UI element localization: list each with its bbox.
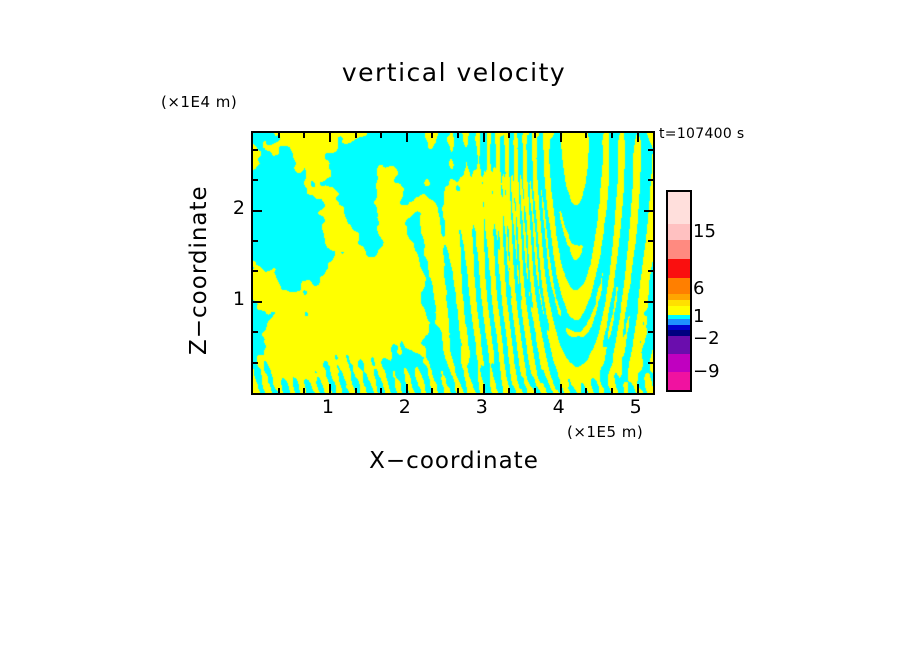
- xaxis-tick-label: 4: [539, 396, 579, 418]
- yaxis-major-tick: [644, 301, 653, 303]
- yaxis-minor-tick: [253, 270, 258, 272]
- xaxis-minor-tick: [380, 388, 382, 393]
- yaxis-minor-tick: [253, 179, 258, 181]
- yaxis-minor-tick: [648, 240, 653, 242]
- yaxis-minor-tick: [648, 149, 653, 151]
- xaxis-minor-tick: [534, 133, 536, 138]
- xaxis-minor-tick: [457, 133, 459, 138]
- xaxis-minor-tick: [585, 388, 587, 393]
- colorbar-tick-label: 15: [693, 221, 716, 242]
- xaxis-minor-tick: [611, 388, 613, 393]
- colorbar-tick-label: 6: [693, 278, 704, 299]
- yaxis-units-label: (×1E4 m): [161, 93, 237, 111]
- xaxis-major-tick: [560, 384, 562, 393]
- xaxis-minor-tick: [611, 133, 613, 138]
- xaxis-tick-label: 3: [462, 396, 502, 418]
- colorbar-band: [668, 259, 690, 278]
- xaxis-units-label: (×1E5 m): [567, 423, 643, 441]
- yaxis-minor-tick: [648, 270, 653, 272]
- xaxis-tick-label: 1: [308, 396, 348, 418]
- colorbar-tick-label: −2: [693, 328, 720, 349]
- xaxis-minor-tick: [508, 388, 510, 393]
- xaxis-tick-label: 5: [616, 396, 656, 418]
- contour-field: [253, 133, 653, 393]
- xaxis-minor-tick: [508, 133, 510, 138]
- xaxis-minor-tick: [534, 388, 536, 393]
- yaxis-title: Z−coordinate: [186, 325, 212, 355]
- yaxis-minor-tick: [648, 362, 653, 364]
- xaxis-major-tick: [483, 133, 485, 142]
- xaxis-minor-tick: [278, 133, 280, 138]
- yaxis-major-tick: [253, 210, 262, 212]
- xaxis-major-tick: [329, 133, 331, 142]
- yaxis-major-tick: [253, 301, 262, 303]
- xaxis-major-tick: [329, 384, 331, 393]
- xaxis-minor-tick: [380, 133, 382, 138]
- yaxis-minor-tick: [253, 149, 258, 151]
- colorbar-band: [668, 336, 690, 354]
- colorbar-band: [668, 224, 690, 241]
- colorbar-band: [668, 278, 690, 294]
- xaxis-minor-tick: [431, 388, 433, 393]
- yaxis-tick-label: 2: [205, 197, 245, 219]
- xaxis-minor-tick: [457, 388, 459, 393]
- xaxis-minor-tick: [355, 388, 357, 393]
- xaxis-major-tick: [637, 384, 639, 393]
- colorbar: [666, 190, 692, 392]
- xaxis-minor-tick: [303, 133, 305, 138]
- colorbar-band: [668, 240, 690, 259]
- yaxis-minor-tick: [253, 362, 258, 364]
- colorbar-band: [668, 372, 690, 390]
- xaxis-tick-label: 2: [385, 396, 425, 418]
- xaxis-major-tick: [406, 133, 408, 142]
- xaxis-title: X−coordinate: [0, 448, 904, 474]
- xaxis-major-tick: [406, 384, 408, 393]
- xaxis-title-text: X−coordinate: [369, 448, 539, 474]
- xaxis-minor-tick: [278, 388, 280, 393]
- colorbar-band: [668, 192, 690, 224]
- yaxis-minor-tick: [253, 331, 258, 333]
- yaxis-minor-tick: [648, 179, 653, 181]
- colorbar-tick-label: 1: [693, 306, 704, 327]
- xaxis-minor-tick: [303, 388, 305, 393]
- xaxis-minor-tick: [585, 133, 587, 138]
- time-annotation: t=107400 s: [659, 126, 744, 142]
- page-title: vertical velocity: [0, 58, 904, 87]
- colorbar-tick-label: −9: [693, 361, 720, 382]
- xaxis-minor-tick: [431, 133, 433, 138]
- plot-area: [251, 131, 655, 395]
- yaxis-major-tick: [644, 210, 653, 212]
- colorbar-band: [668, 354, 690, 372]
- plot-title-text: vertical velocity: [342, 58, 566, 87]
- yaxis-minor-tick: [253, 240, 258, 242]
- yaxis-tick-label: 1: [205, 288, 245, 310]
- xaxis-major-tick: [637, 133, 639, 142]
- xaxis-major-tick: [560, 133, 562, 142]
- xaxis-major-tick: [483, 384, 485, 393]
- yaxis-minor-tick: [648, 331, 653, 333]
- xaxis-minor-tick: [355, 133, 357, 138]
